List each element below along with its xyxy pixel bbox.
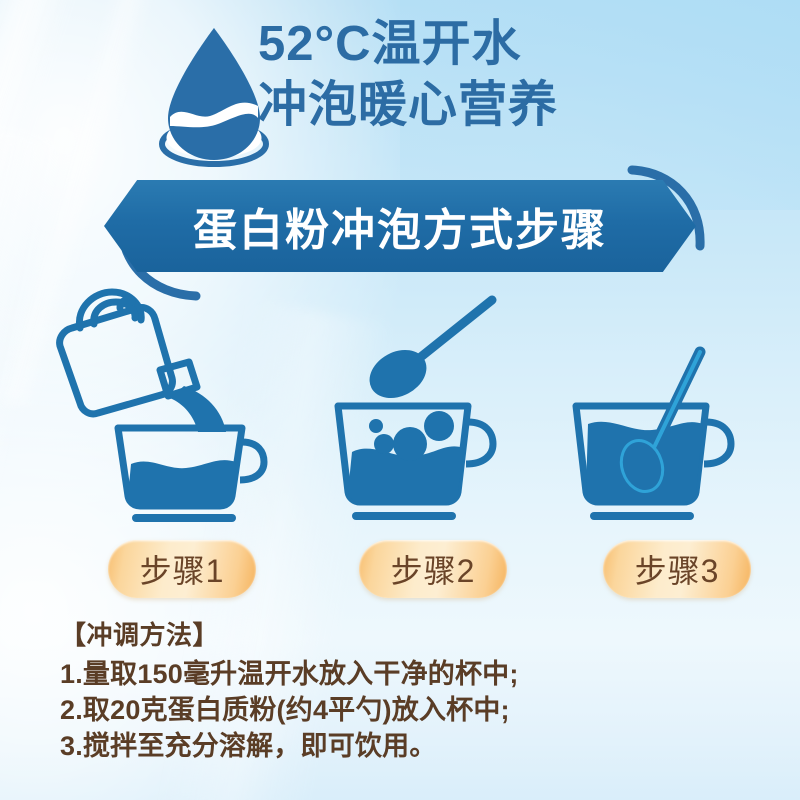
step-pill-1[interactable]: 步骤1: [108, 540, 256, 598]
step-pill-3[interactable]: 步骤3: [603, 540, 751, 598]
banner-title: 蛋白粉冲泡方式步骤: [193, 194, 607, 258]
headline-block: 52°C温开水 冲泡暖心营养: [258, 14, 788, 136]
instruction-item-2: 2.取20克蛋白质粉(约4平勺)放入杯中;: [60, 692, 760, 728]
banner-shape: 蛋白粉冲泡方式步骤: [104, 180, 696, 272]
promo-infographic-page: 52°C温开水 冲泡暖心营养 蛋白粉冲泡方式步骤: [0, 0, 800, 800]
headline-line-2: 冲泡暖心营养: [258, 75, 788, 136]
step-pills-row: 步骤1 步骤2 步骤3: [0, 540, 800, 602]
step-illustrations-row: [0, 286, 800, 526]
instructions-heading: 【冲调方法】: [60, 618, 760, 652]
headline-line-1: 52°C温开水: [258, 14, 788, 75]
section-banner: 蛋白粉冲泡方式步骤: [104, 180, 696, 272]
step-2-illustration: [300, 286, 550, 526]
instruction-item-3: 3.搅拌至充分溶解，即可饮用。: [60, 728, 760, 764]
step-3-illustration: [548, 286, 798, 526]
step-pill-1-label: 步骤1: [140, 546, 225, 592]
instructions-block: 【冲调方法】 1.量取150毫升温开水放入干净的杯中; 2.取20克蛋白质粉(约…: [60, 618, 760, 764]
step-pill-2-label: 步骤2: [391, 546, 476, 592]
instruction-item-1: 1.量取150毫升温开水放入干净的杯中;: [60, 656, 760, 692]
step-pill-3-label: 步骤3: [635, 546, 720, 592]
step-1-illustration: [46, 286, 296, 526]
header: 52°C温开水 冲泡暖心营养: [0, 0, 800, 172]
step-pill-2[interactable]: 步骤2: [359, 540, 507, 598]
